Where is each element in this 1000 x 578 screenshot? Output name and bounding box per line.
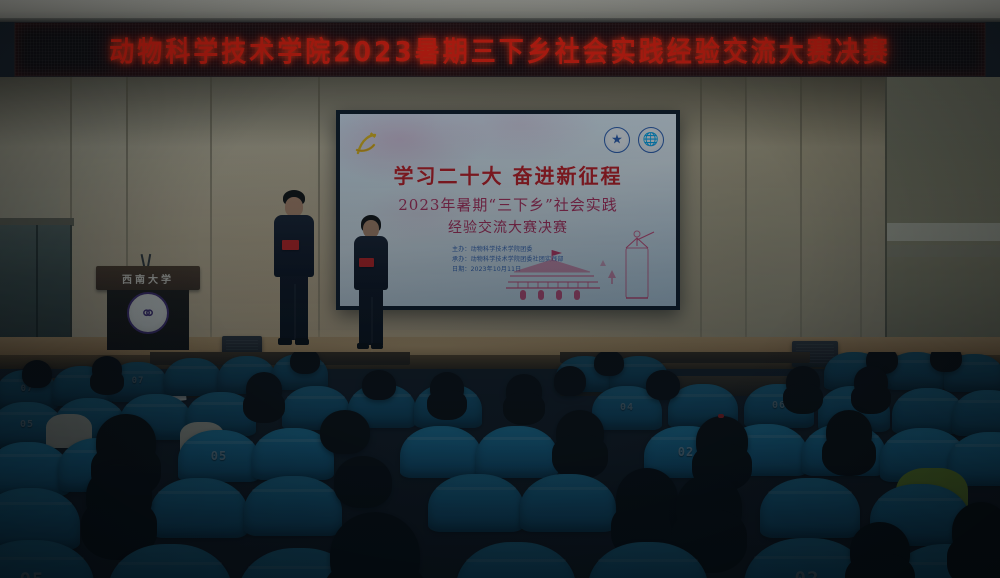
slide-credits: 主办：动物科学技术学院团委 承办：动物科学技术学院团委社团实践部 日期：2023… (452, 245, 564, 275)
slide-credit-line: 日期：2023年10月11日 (452, 265, 564, 275)
host-trousers (280, 276, 308, 340)
seat[interactable] (400, 426, 482, 478)
wall-panel-seam (210, 77, 212, 355)
audience-head (616, 468, 678, 530)
seat-number: 04 (592, 402, 662, 413)
southwest-university-seal: ⚭ (127, 292, 169, 334)
host-shoe (357, 343, 369, 349)
audience-head (320, 410, 370, 454)
audience-head (96, 414, 156, 470)
seat[interactable]: 05 (0, 540, 94, 578)
door-mullion (36, 225, 38, 337)
audience-head (362, 370, 396, 400)
host-left (262, 190, 326, 355)
host-shoe (371, 343, 383, 349)
host-red-cue-card (282, 240, 299, 250)
seat-number: 05 (178, 449, 260, 463)
podium-top: 西南大学 (96, 266, 200, 290)
audience-head (696, 416, 748, 466)
host-right (342, 215, 400, 355)
audience-head (952, 502, 1000, 560)
wall-band (887, 245, 1000, 257)
audience-head (506, 374, 542, 408)
seat[interactable] (760, 478, 860, 538)
globe-logo: 🌐 (638, 127, 664, 153)
auditorium-scene: 动物科学技术学院2023暑期三下乡社会实践经验交流大赛决赛 (0, 0, 1000, 578)
wall-panel-seam (800, 77, 802, 355)
host-shoe (295, 338, 309, 345)
seat[interactable] (952, 390, 1000, 436)
host-trousers (359, 289, 383, 345)
host-shoe (278, 338, 292, 345)
audience-head (92, 356, 122, 382)
audience-head (554, 366, 586, 396)
audience-seating-area: 07 07 05 04 06 (0, 352, 1000, 578)
audience-head (22, 360, 52, 388)
audience-head (334, 456, 392, 508)
podium-label: 西南大学 (96, 271, 200, 286)
hair-tie (718, 414, 724, 418)
audience-head (556, 410, 604, 456)
seat[interactable] (150, 478, 248, 538)
seat[interactable] (428, 474, 524, 532)
audience-head (826, 410, 872, 454)
slide-credit-line: 承办：动物科学技术学院团委社团实践部 (452, 255, 564, 265)
seat[interactable] (520, 474, 616, 532)
audience-head (594, 352, 624, 376)
university-seal-logo: ★ (604, 127, 630, 153)
led-banner: 动物科学技术学院2023暑期三下乡社会实践经验交流大赛决赛 (14, 22, 986, 77)
audience-head (786, 366, 820, 398)
audience-head (676, 474, 742, 540)
communist-party-hammer-sickle-emblem (352, 132, 380, 158)
wall-panel (746, 77, 800, 355)
audience-head (330, 512, 420, 578)
audience-head (430, 372, 464, 404)
seat[interactable] (456, 542, 576, 578)
audience-head (290, 352, 320, 374)
seat-number: 05 (0, 569, 94, 578)
slide-title: 学习二十大 奋进新征程 (340, 160, 676, 189)
ceiling-strip (0, 0, 1000, 22)
audience-head (646, 370, 680, 400)
podium: 西南大学 ⚭ (96, 266, 200, 350)
seat[interactable] (476, 426, 558, 478)
slide-subtitle-line1: 2023年暑期“三下乡”社会实践 (340, 194, 676, 215)
seat[interactable] (244, 476, 342, 536)
host-red-cue-card (359, 258, 374, 267)
wall-band (887, 223, 1000, 241)
audience-head (930, 352, 962, 372)
right-wall-bay (885, 77, 1000, 355)
audience-head (246, 372, 282, 406)
audience-head (850, 522, 910, 578)
slide-logos: ★ 🌐 (604, 127, 664, 153)
wall-panel-seam (700, 77, 702, 355)
seat[interactable] (164, 358, 222, 396)
wall-panel-seam (860, 77, 862, 355)
left-doorway (0, 225, 72, 337)
audience-head (86, 464, 152, 528)
led-banner-text: 动物科学技术学院2023暑期三下乡社会实践经验交流大赛决赛 (109, 29, 891, 69)
seat[interactable]: 05 (178, 430, 260, 482)
audience-head (854, 366, 888, 398)
slide-credit-line: 主办：动物科学技术学院团委 (452, 245, 564, 255)
host-head (285, 197, 303, 217)
